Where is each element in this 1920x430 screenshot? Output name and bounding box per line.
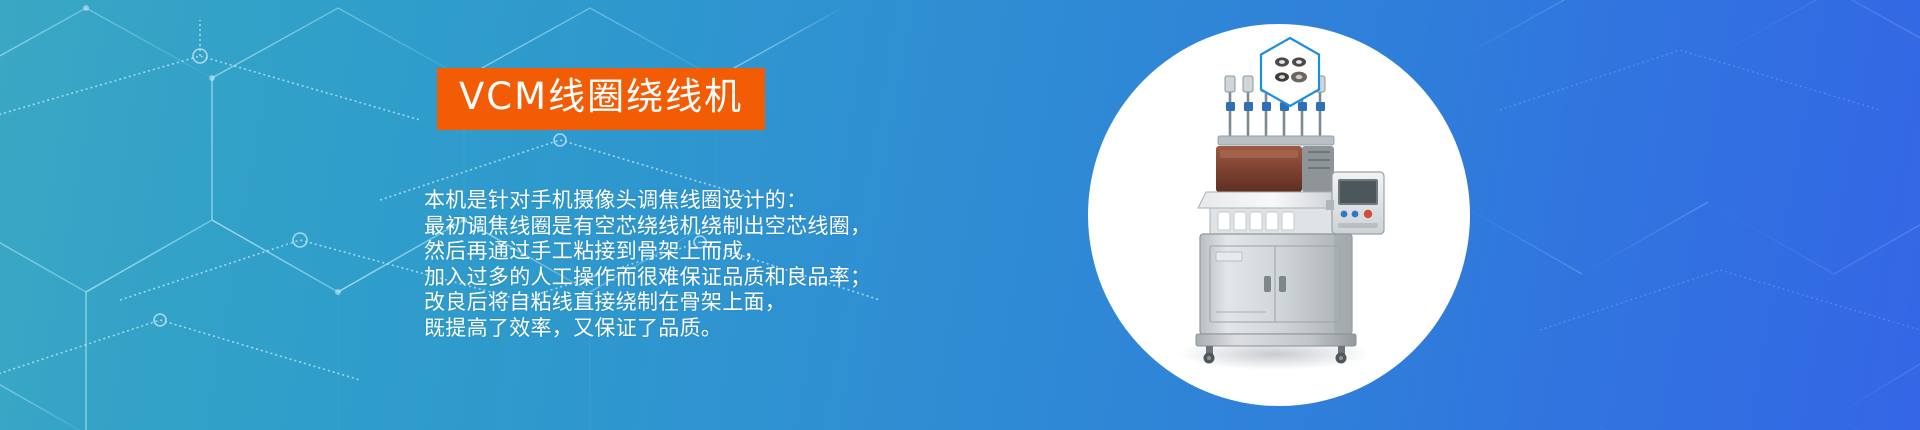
description-line-2: 最初调焦线圈是有空芯绕线机绕制出空芯线圈， (424, 214, 1064, 240)
title-banner-box: VCM线圈绕线机 (437, 68, 765, 130)
page-title: VCM线圈绕线机 (459, 77, 743, 117)
description-line-6: 既提高了效率，又保证了品质。 (424, 316, 1064, 342)
description-line-1: 本机是针对手机摄像头调焦线圈设计的： (424, 188, 1064, 214)
product-banner: VCM线圈绕线机 本机是针对手机摄像头调焦线圈设计的： 最初调焦线圈是有空芯绕线… (0, 0, 1920, 430)
description-line-5: 改良后将自粘线直接绕制在骨架上面， (424, 290, 1064, 316)
description-line-4: 加入过多的人工操作而很难保证品质和良品率； (424, 265, 1064, 291)
hexagon-coil-badge (1258, 36, 1322, 108)
description-text-block: 本机是针对手机摄像头调焦线圈设计的： 最初调焦线圈是有空芯绕线机绕制出空芯线圈，… (424, 188, 1064, 342)
description-line-3: 然后再通过手工粘接到骨架上而成， (424, 239, 1064, 265)
